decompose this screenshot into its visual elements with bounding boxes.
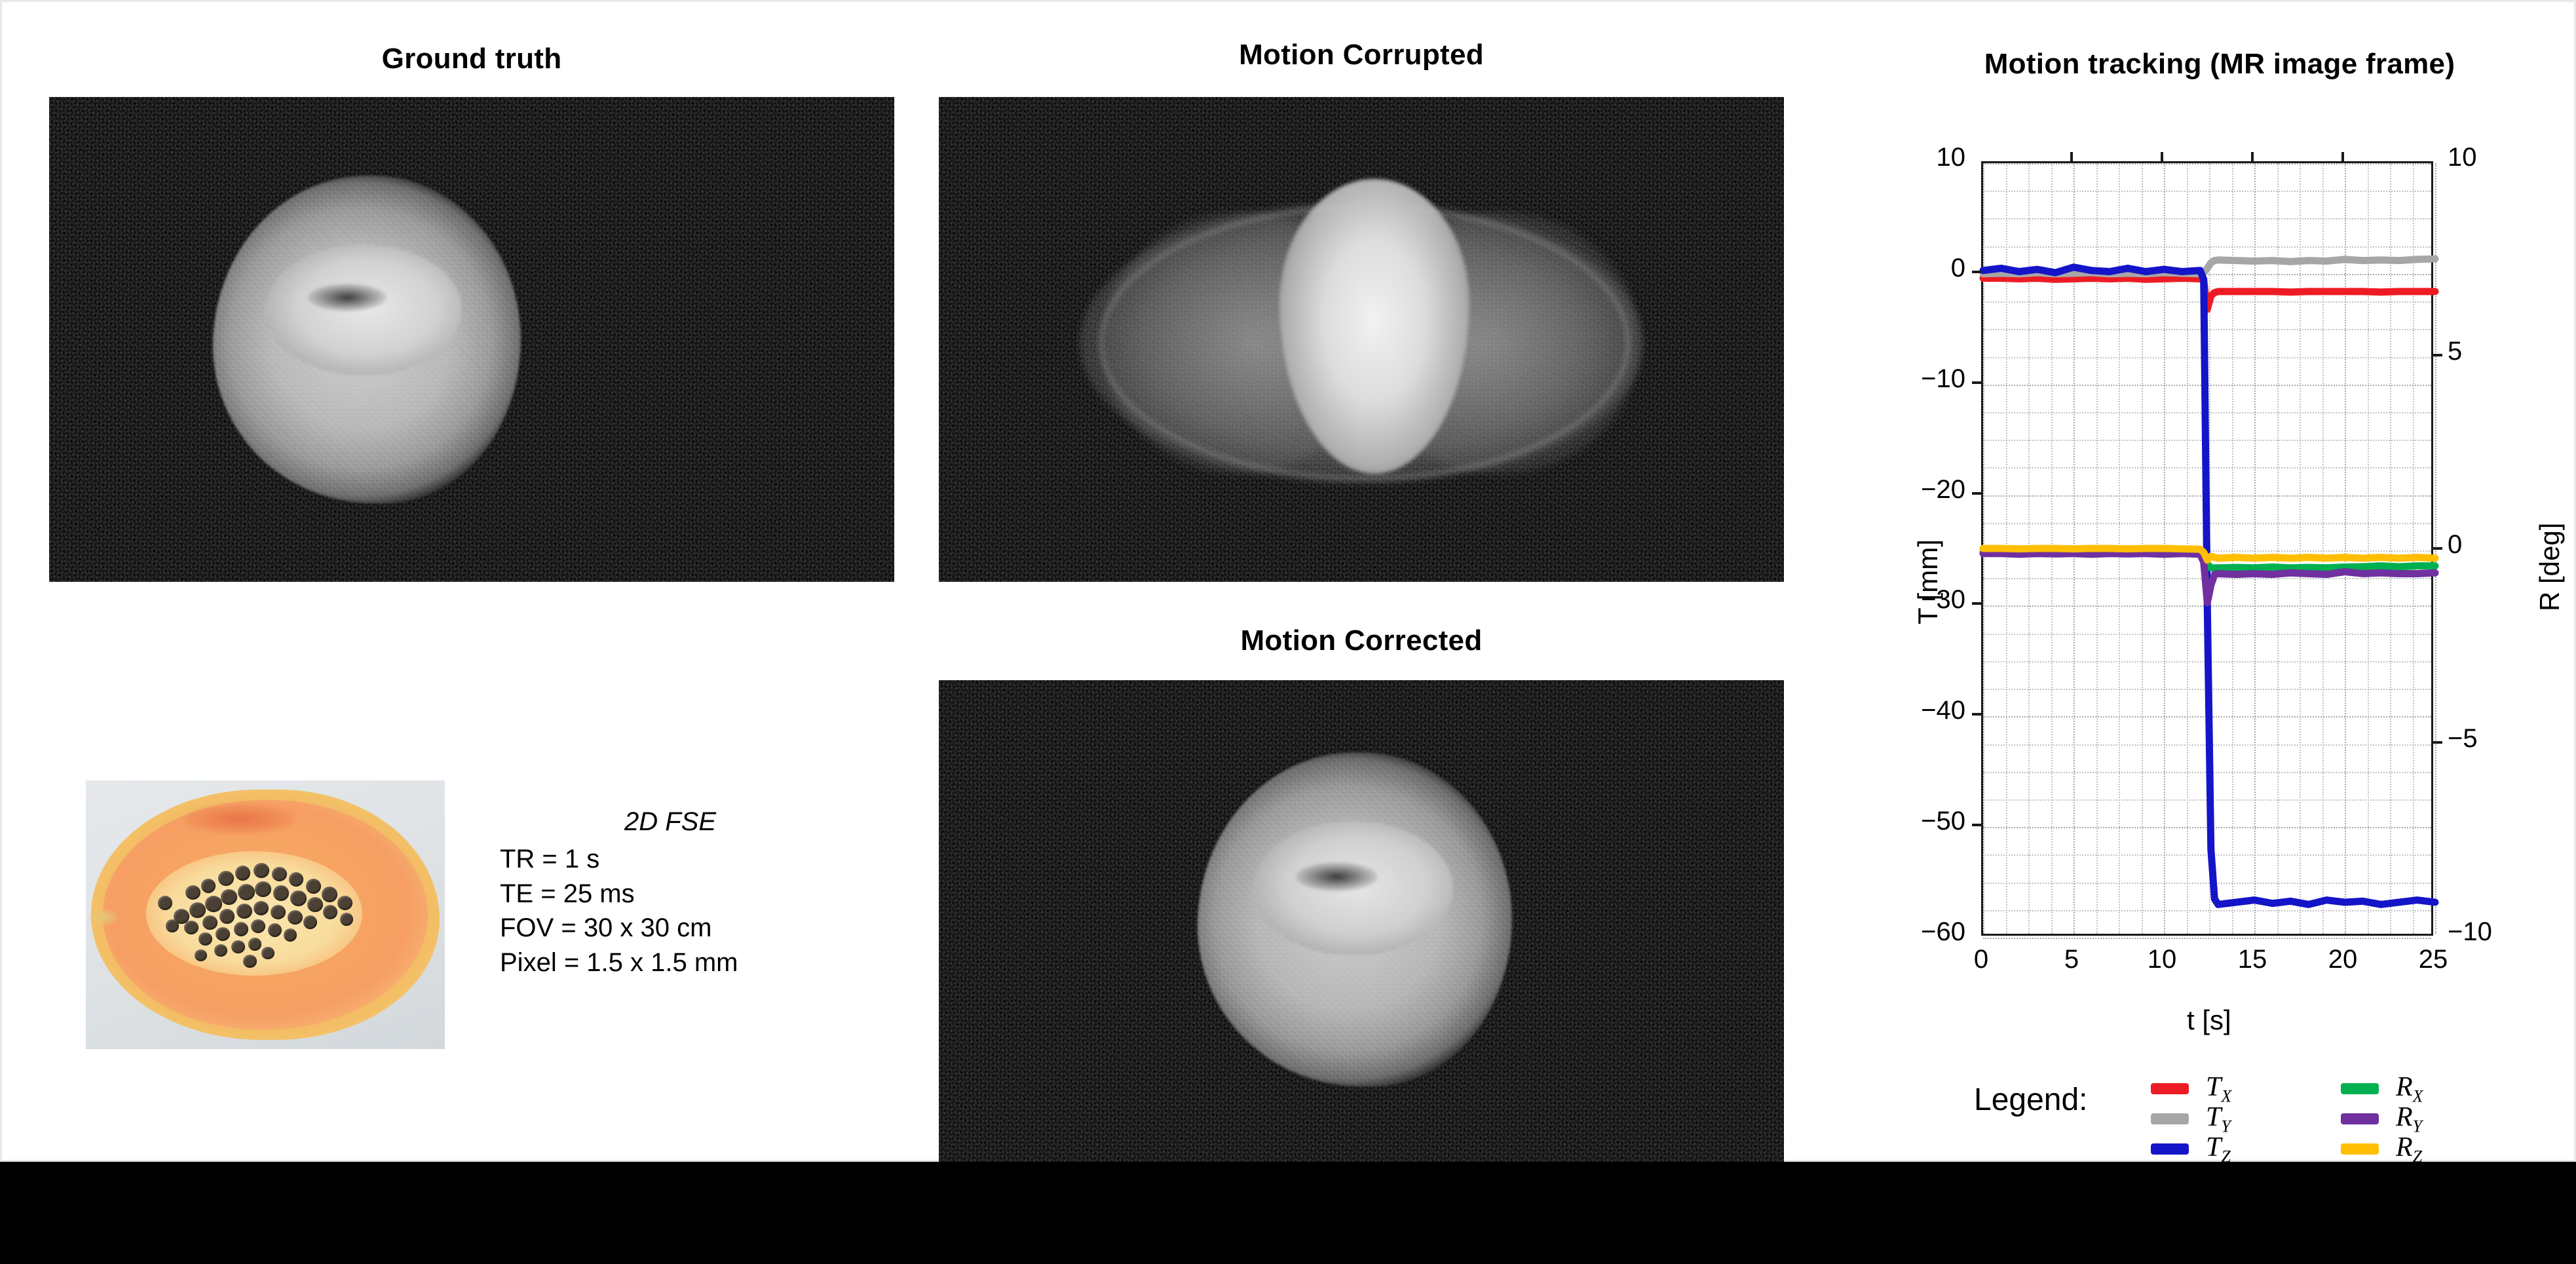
legend-swatch [2151,1143,2189,1155]
mr-image-motion-corrected [939,680,1784,1165]
papaya-mr-seed-dark [1296,862,1378,891]
plot-area [1981,161,2433,936]
axis-tick [2433,354,2442,356]
axis-tick [1972,824,1981,826]
y-axis-left-label: T [mm] [1912,539,1944,624]
seed [303,915,317,929]
seed [201,879,216,893]
y-axis-left-tick-label: −40 [1889,696,1965,725]
seed [307,897,323,912]
seed [322,887,337,902]
legend-items: TXTYTZRXRYRZ [1889,1057,2550,1149]
seed [261,947,275,959]
seed [238,884,255,900]
seed [158,896,172,910]
seed [273,885,289,901]
papaya-stem-notch [88,909,119,926]
series-t-x [1983,278,2435,309]
legend-swatch [2341,1113,2379,1124]
y-axis-right-tick-label: −5 [2448,724,2478,754]
chart-title: Motion tracking (MR image frame) [1889,48,2550,81]
param-te: TE = 25 ms [500,877,841,911]
axis-tick [2433,741,2442,744]
axis-tick [1972,271,1981,273]
seed [272,867,287,881]
x-axis-tick-label: 25 [2407,945,2459,974]
param-pixel: Pixel = 1.5 x 1.5 mm [500,946,841,980]
seed [306,879,321,894]
x-axis-tick-label: 5 [2045,945,2098,974]
axis-tick [2433,547,2442,550]
motion-tracking-chart: Motion tracking (MR image frame) 100−10−… [1889,35,2570,1162]
y-axis-left-tick-label: −50 [1889,807,1965,836]
seed [271,905,286,919]
y-axis-left-tick-label: 10 [1889,143,1965,172]
seed [254,863,269,878]
y-axis-left-tick-label: −20 [1889,475,1965,505]
seed [284,929,297,942]
panel-title-motion-corrupted: Motion Corrupted [939,39,1784,71]
axis-tick [2341,152,2344,161]
legend-swatch [2341,1143,2379,1155]
panel-title-ground-truth: Ground truth [49,43,894,75]
seed [231,940,245,953]
mr-image-ground-truth [49,97,894,582]
seed [195,949,207,961]
seed [248,938,261,951]
seed [243,955,257,968]
ghost-edge-arc [1099,205,1630,480]
seed [185,885,200,900]
papaya-blush [184,804,295,834]
seed [268,923,282,937]
seed [219,909,235,924]
papaya-mr-seed-dark [308,284,387,311]
seed [237,904,252,919]
chart-legend: Legend: TXTYTZRXRYRZ [1889,1057,2550,1149]
seed [166,919,179,932]
x-axis-label: t [s] [2187,1005,2231,1036]
seed [288,910,303,925]
bottom-black-band [0,1162,2576,1264]
seed [234,922,248,936]
seed [235,866,250,881]
y-axis-left-tick-label: 0 [1889,254,1965,283]
x-axis-tick-label: 15 [2226,945,2279,974]
param-fov: FOV = 30 x 30 cm [500,911,841,946]
seed [323,905,337,919]
sequence-name: 2D FSE [500,805,841,839]
seed [340,913,353,926]
y-axis-right-tick-label: 5 [2448,337,2462,366]
seed [202,915,218,930]
seed [199,932,212,946]
seed [251,919,265,933]
y-axis-left-tick-label: −10 [1889,364,1965,394]
x-axis-tick-label: 20 [2317,945,2369,974]
axis-tick [2161,152,2163,161]
seed [221,889,237,905]
series-lines [1983,163,2435,938]
y-axis-right-tick-label: 10 [2448,143,2477,172]
panel-title-motion-corrected: Motion Corrected [939,624,1784,657]
seed [216,927,230,941]
y-axis-right-tick-label: 0 [2448,530,2462,560]
legend-swatch [2341,1083,2379,1094]
seed [205,896,222,912]
axis-tick [1972,381,1981,384]
x-axis-tick-label: 10 [2136,945,2188,974]
axis-tick [1972,492,1981,495]
seed [289,872,303,887]
seed [214,944,227,957]
axis-tick [2070,152,2073,161]
axis-tick [2251,152,2254,161]
seed [255,881,271,897]
y-axis-right-tick-label: −10 [2448,917,2492,947]
param-tr: TR = 1 s [500,842,841,877]
seed [290,891,307,906]
scan-parameters: 2D FSE TR = 1 s TE = 25 ms FOV = 30 x 30… [500,805,841,980]
grid-line-horizontal [1983,938,2431,939]
seed [189,902,206,918]
seed [337,896,352,910]
seed [218,871,234,886]
slide-canvas: Ground truth Motion Corrupted Motion Cor… [0,0,2576,1162]
seed [254,901,269,915]
y-axis-left-tick-label: −60 [1889,917,1965,947]
seed [184,921,199,934]
x-axis-tick-label: 0 [1955,945,2007,974]
legend-swatch [2151,1083,2189,1094]
axis-tick [1972,602,1981,605]
axis-tick [1972,713,1981,716]
legend-swatch [2151,1113,2189,1124]
mr-image-motion-corrupted [939,97,1784,582]
y-axis-right-label: R [deg] [2534,523,2566,611]
papaya-photograph [86,780,445,1049]
